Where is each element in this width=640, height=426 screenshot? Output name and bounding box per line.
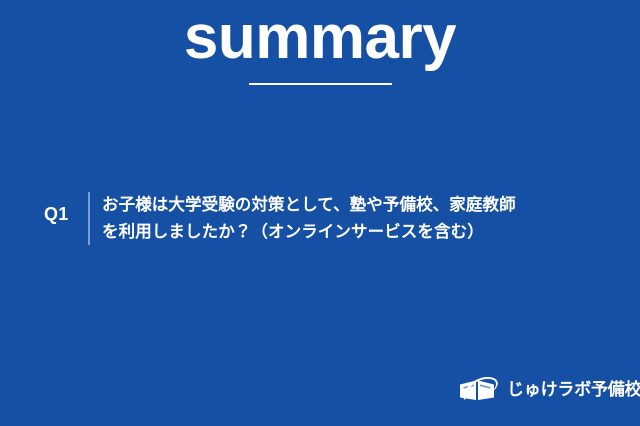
question-divider [88, 192, 90, 245]
title-underline-rule [249, 83, 392, 85]
question-number-label: Q1 [44, 192, 88, 223]
brand-logo: じゅけラボ予備校 [456, 374, 640, 406]
brand-wordmark: じゅけラボ予備校 [507, 382, 640, 399]
title-block: summary [0, 6, 640, 85]
open-book-swoosh-logo-icon [456, 374, 502, 406]
question-text: お子様は大学受験の対策として、塾や予備校、家庭教師 を利用しましたか？（オンライ… [102, 192, 614, 245]
question-block: Q1 お子様は大学受験の対策として、塾や予備校、家庭教師 を利用しましたか？（オ… [44, 192, 614, 245]
summary-slide: summary Q1 お子様は大学受験の対策として、塾や予備校、家庭教師 を利用… [0, 0, 640, 426]
page-title: summary [0, 6, 640, 69]
